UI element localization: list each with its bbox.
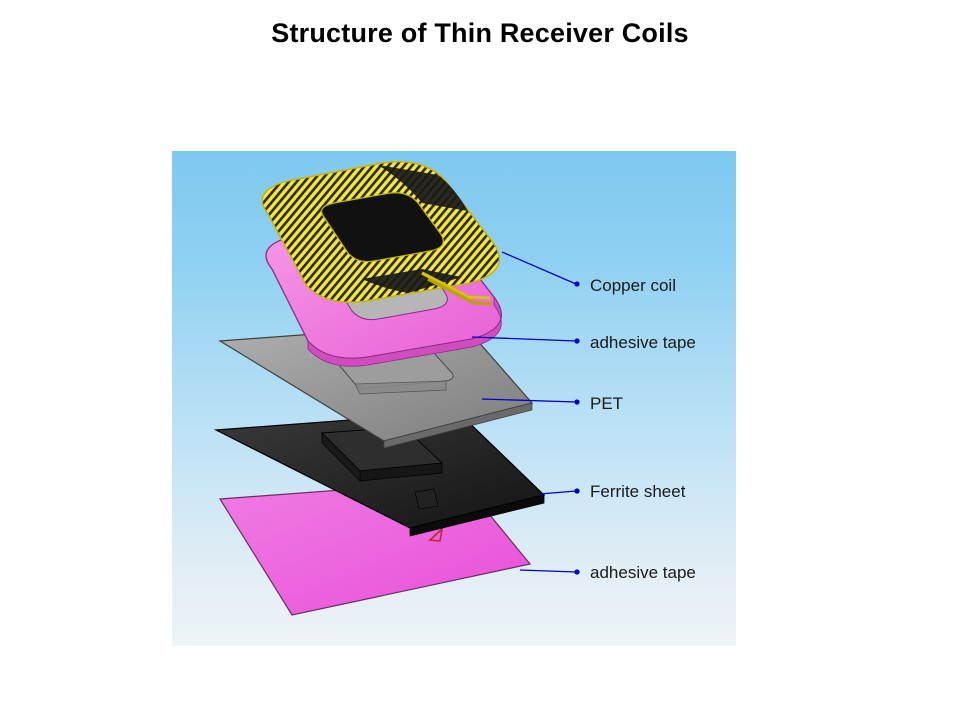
callout-ferrite-sheet: Ferrite sheet — [590, 482, 685, 502]
callout-adhesive-tape-top: adhesive tape — [590, 333, 696, 353]
figure-container: Copper coil adhesive tape PET Ferrite sh… — [172, 151, 736, 646]
page-title: Structure of Thin Receiver Coils — [0, 18, 960, 49]
callout-copper-coil: Copper coil — [590, 276, 676, 296]
callout-pet: PET — [590, 394, 623, 414]
slide-canvas: Structure of Thin Receiver Coils — [0, 0, 960, 720]
callout-adhesive-tape-bottom: adhesive tape — [590, 563, 696, 583]
